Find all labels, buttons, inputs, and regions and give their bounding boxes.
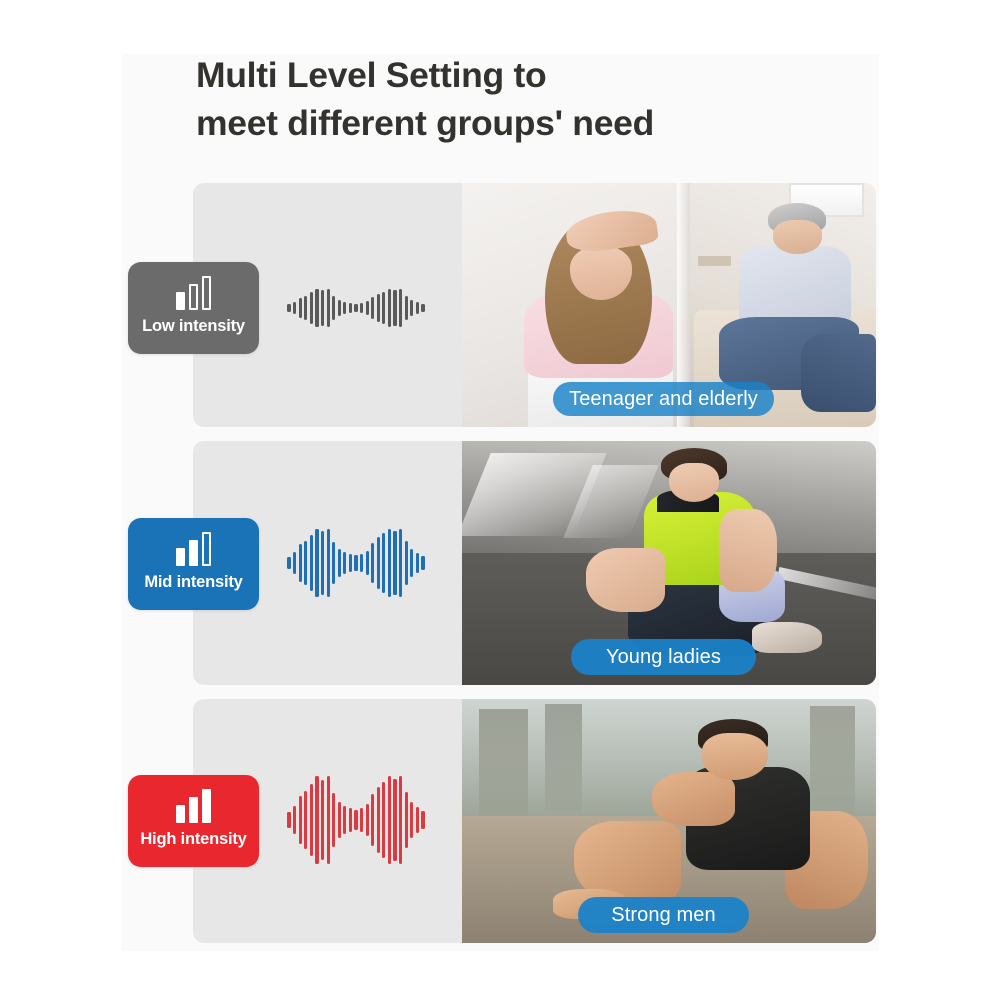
waveform-bar: [399, 776, 402, 863]
waveform-bar: [393, 290, 396, 326]
waveform-bar: [310, 535, 313, 591]
waveform-bar: [299, 796, 302, 844]
waveform-bar: [421, 304, 424, 312]
waveform-bar: [293, 806, 296, 834]
waveform-bar: [354, 304, 357, 313]
waveform-bar: [349, 303, 352, 313]
waveform-bar: [327, 289, 330, 327]
waveform-bar: [388, 289, 391, 327]
waveform-bar: [388, 529, 391, 597]
waveform-bar: [405, 792, 408, 847]
waveform-bar: [310, 784, 313, 856]
badge-low-intensity[interactable]: Low intensity: [128, 262, 259, 354]
waveform-bar: [327, 776, 330, 863]
waveform-bar: [410, 549, 413, 578]
waveform-bar: [315, 529, 318, 597]
waveform-bar: [327, 529, 330, 597]
waveform-bar: [349, 808, 352, 832]
waveform-bar: [366, 804, 369, 835]
waveform-bar: [338, 802, 341, 839]
waveform-bar: [405, 541, 408, 584]
waveform-bar: [410, 802, 413, 839]
waveform-bar: [287, 304, 290, 311]
waveform-bar: [293, 552, 296, 574]
signal-bars-icon-mid: [176, 532, 211, 566]
waveform-bar: [354, 810, 357, 830]
waveform-bar: [371, 794, 374, 846]
waveform-bar: [338, 300, 341, 316]
page-title-line-1: Multi Level Setting to: [196, 52, 836, 100]
waveform-bar: [332, 542, 335, 584]
waveform-bar: [416, 302, 419, 313]
waveform-bar: [421, 811, 424, 829]
badge-label-high: High intensity: [140, 830, 246, 849]
waveform-bar: [299, 298, 302, 319]
waveform-bar: [304, 296, 307, 321]
infographic-canvas: Multi Level Setting to meet different gr…: [0, 0, 1001, 1001]
waveform-bar: [366, 301, 369, 315]
caption-pill-low: Teenager and elderly: [553, 382, 774, 416]
waveform-bar: [321, 780, 324, 861]
waveform-bar: [343, 302, 346, 314]
waveform-bar: [321, 290, 324, 325]
waveform-bar: [304, 541, 307, 586]
signal-bars-icon-high: [176, 789, 211, 823]
waveform-bar: [382, 533, 385, 592]
waveform-bar: [321, 531, 324, 594]
waveform-bar: [416, 807, 419, 833]
waveform-bar: [304, 791, 307, 848]
page-title-line-2: meet different groups' need: [196, 100, 836, 148]
waveform-bar: [393, 531, 396, 596]
waveform-bar: [360, 554, 363, 573]
badge-label-mid: Mid intensity: [144, 573, 242, 592]
signal-bars-icon-low: [176, 276, 211, 310]
waveform-bar: [338, 549, 341, 578]
badge-label-low: Low intensity: [142, 317, 245, 336]
waveform-bar: [349, 554, 352, 573]
waveform-bar: [354, 555, 357, 571]
waveform-bar: [287, 812, 290, 829]
waveform-mid: [286, 527, 426, 599]
waveform-bar: [360, 808, 363, 832]
waveform-bar: [388, 776, 391, 863]
waveform-bar: [377, 294, 380, 323]
waveform-bar: [371, 297, 374, 319]
waveform-bar: [399, 529, 402, 597]
page-title: Multi Level Setting to meet different gr…: [196, 52, 836, 147]
waveform-bar: [343, 552, 346, 574]
waveform-bar: [382, 292, 385, 325]
waveform-bar: [393, 779, 396, 862]
waveform-high: [286, 774, 426, 866]
waveform-low: [286, 288, 426, 328]
waveform-bar: [299, 544, 302, 581]
caption-pill-high: Strong men: [578, 897, 749, 933]
waveform-bar: [405, 296, 408, 320]
waveform-bar: [382, 782, 385, 857]
waveform-bar: [410, 300, 413, 316]
waveform-bar: [310, 292, 313, 323]
waveform-bar: [371, 543, 374, 583]
waveform-bar: [421, 556, 424, 570]
waveform-bar: [399, 289, 402, 327]
waveform-bar: [287, 557, 290, 570]
waveform-bar: [332, 296, 335, 319]
waveform-bar: [332, 793, 335, 846]
waveform-bar: [377, 537, 380, 589]
badge-mid-intensity[interactable]: Mid intensity: [128, 518, 259, 610]
waveform-bar: [315, 776, 318, 863]
waveform-bar: [377, 787, 380, 853]
badge-high-intensity[interactable]: High intensity: [128, 775, 259, 867]
waveform-bar: [360, 303, 363, 313]
waveform-bar: [315, 289, 318, 327]
caption-pill-mid: Young ladies: [571, 639, 756, 675]
waveform-bar: [293, 302, 296, 314]
waveform-bar: [343, 806, 346, 834]
waveform-bar: [366, 551, 369, 575]
waveform-bar: [416, 553, 419, 573]
